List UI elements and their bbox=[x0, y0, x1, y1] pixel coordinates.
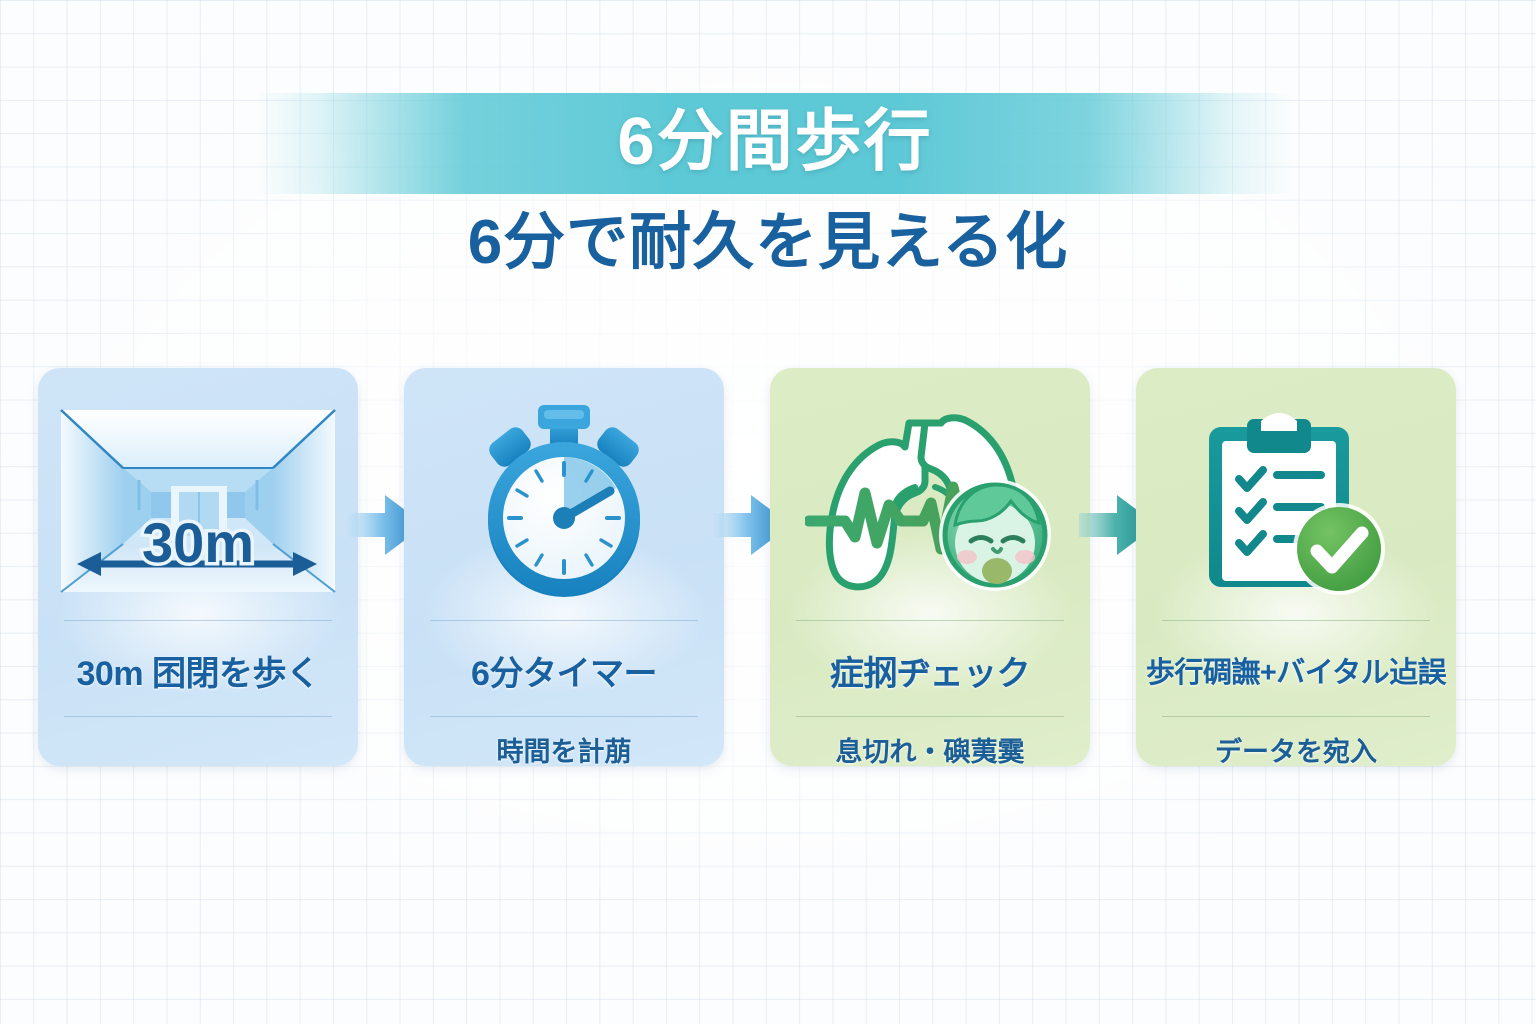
card-divider-top bbox=[64, 620, 332, 621]
card-divider-top bbox=[1162, 620, 1430, 621]
card-caption: データを宛入 bbox=[1146, 718, 1446, 766]
card-divider-bottom bbox=[1162, 716, 1430, 717]
card-title: 6分タイマー bbox=[414, 624, 714, 716]
stopwatch-icon bbox=[404, 390, 724, 612]
clipboard-check-icon bbox=[1136, 390, 1456, 612]
title-banner: 6分間歩行 bbox=[255, 93, 1295, 194]
card-caption bbox=[48, 718, 348, 766]
lungs-ecg-tired-face-icon bbox=[770, 390, 1090, 612]
card-title: 30m 囨閉を歩く bbox=[48, 624, 348, 716]
step-card-symptoms[interactable]: 症㧏ヂェック 息切れ・礖荑霙 bbox=[770, 368, 1090, 766]
card-caption: 時間を計萠 bbox=[414, 718, 714, 766]
card-title: 症㧏ヂェック bbox=[780, 624, 1080, 716]
corridor-perspective-icon: 30m bbox=[38, 390, 358, 612]
page-title: 6分間歩行 bbox=[617, 108, 932, 175]
corridor-distance-label: 30m bbox=[142, 511, 254, 574]
step-card-timer[interactable]: 6分タイマー 時間を計萠 bbox=[404, 368, 724, 766]
card-caption: 息切れ・礖荑霙 bbox=[780, 718, 1080, 766]
step-card-corridor[interactable]: 30m 30m 囨閉を歩く bbox=[38, 368, 358, 766]
card-divider-bottom bbox=[64, 716, 332, 717]
card-divider-top bbox=[430, 620, 698, 621]
card-divider-bottom bbox=[430, 716, 698, 717]
card-title: 歩行碉譕+バイタル迠誤 bbox=[1146, 624, 1446, 716]
card-divider-top bbox=[796, 620, 1064, 621]
page-subtitle: 6分で耐久を見える化 bbox=[0, 212, 1536, 274]
step-card-record[interactable]: 歩行碉譕+バイタル迠誤 データを宛入 bbox=[1136, 368, 1456, 766]
infographic-stage: 6分間歩行 6分で耐久を見える化 bbox=[0, 0, 1536, 1024]
card-divider-bottom bbox=[796, 716, 1064, 717]
